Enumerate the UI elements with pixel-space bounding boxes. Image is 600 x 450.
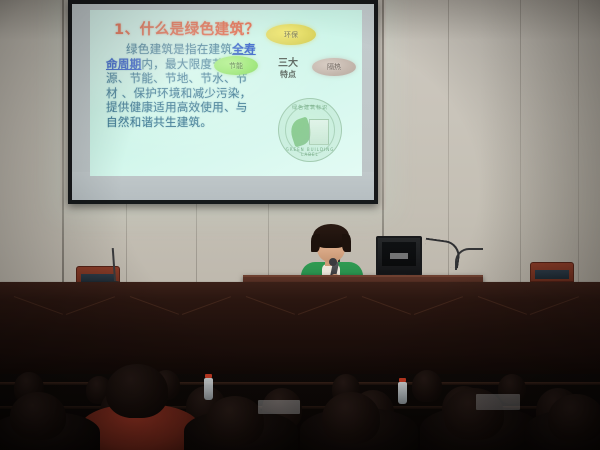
audience-head-front: [206, 396, 264, 446]
desk-ornament: [362, 296, 411, 315]
audience-area: [0, 352, 600, 450]
bottle-cap: [399, 378, 406, 382]
desk-ornament: [66, 296, 115, 315]
audience-paper: [258, 400, 300, 414]
desk-ornament: [478, 296, 527, 315]
audience-head-front: [106, 364, 168, 418]
audience-head: [412, 370, 442, 402]
wall-panel-left: [0, 0, 62, 300]
slide-center-big: 三大: [278, 58, 298, 69]
water-bottle: [398, 382, 407, 404]
chair-right: [530, 262, 574, 282]
wall-seam: [62, 0, 64, 300]
desk-ornament: [298, 296, 347, 315]
emblem-top-text: 绿色建筑标识: [279, 104, 341, 111]
slide-center-small: 特点: [280, 69, 296, 80]
audience-head-front: [548, 394, 600, 442]
building-icon: [309, 119, 329, 145]
slide-title: 1、什么是绿色建筑？: [114, 18, 260, 39]
audience-paper: [476, 394, 520, 410]
desk-ornament: [530, 296, 579, 315]
emblem-bottom-text: GREEN BUILDING LABEL: [279, 147, 341, 157]
slide-body-part1: 绿色建筑是指在建筑: [126, 42, 232, 56]
projection-screen: 1、什么是绿色建筑？ 绿色建筑是指在建筑全寿命周期内，最大限度节约资源、节能、节…: [68, 0, 378, 204]
green-building-emblem-icon: 绿色建筑标识 GREEN BUILDING LABEL: [278, 98, 342, 162]
wall-shading: [480, 0, 600, 300]
chair-back: [535, 270, 569, 279]
desk-ornament: [14, 296, 63, 315]
desk-ornament: [414, 296, 463, 315]
desk-ornament: [182, 296, 231, 315]
screen-blank-area: [72, 172, 374, 200]
slide-center-label: 三大 特点: [266, 52, 310, 86]
water-bottle: [204, 378, 213, 400]
audience-head-front: [10, 392, 66, 440]
microphone-head: [329, 258, 337, 266]
monitor-brand-label: [390, 253, 408, 259]
stage-monitor: [376, 236, 422, 276]
slide-oval-jieneng: 节能: [214, 56, 258, 75]
screen-surface: 1、什么是绿色建筑？ 绿色建筑是指在建筑全寿命周期内，最大限度节约资源、节能、节…: [72, 4, 374, 200]
slide-oval-third: 隔热: [312, 58, 356, 76]
bottle-cap: [205, 374, 212, 378]
desk-ornament: [130, 296, 179, 315]
presentation-slide: 1、什么是绿色建筑？ 绿色建筑是指在建筑全寿命周期内，最大限度节约资源、节能、节…: [90, 10, 362, 176]
lecture-hall-photo: 1、什么是绿色建筑？ 绿色建筑是指在建筑全寿命周期内，最大限度节约资源、节能、节…: [0, 0, 600, 450]
speaker-hair: [313, 224, 349, 248]
desk-ornament: [246, 296, 295, 315]
audience-head-front: [322, 392, 380, 444]
slide-oval-huanbao: 环保: [266, 24, 316, 45]
